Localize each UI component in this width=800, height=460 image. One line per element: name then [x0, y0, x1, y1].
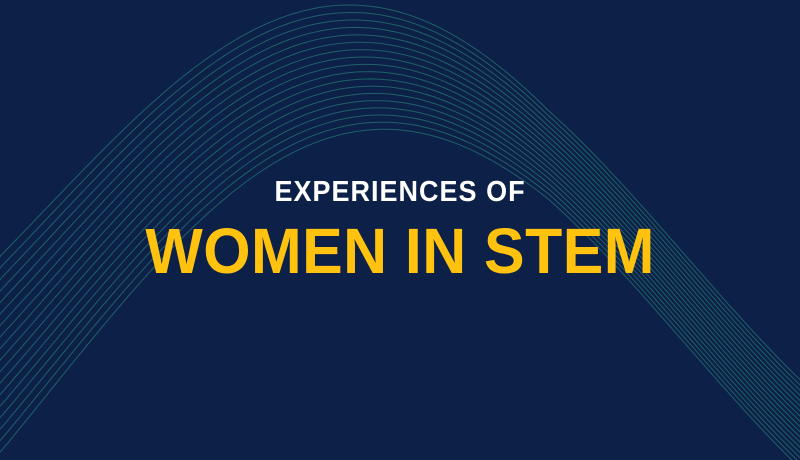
eyebrow-text: EXPERIENCES OF — [274, 178, 525, 207]
women-in-stem-banner: EXPERIENCES OF WOMEN IN STEM — [0, 0, 800, 460]
title-block: EXPERIENCES OF WOMEN IN STEM — [0, 0, 800, 460]
page-title: WOMEN IN STEM — [145, 219, 654, 283]
